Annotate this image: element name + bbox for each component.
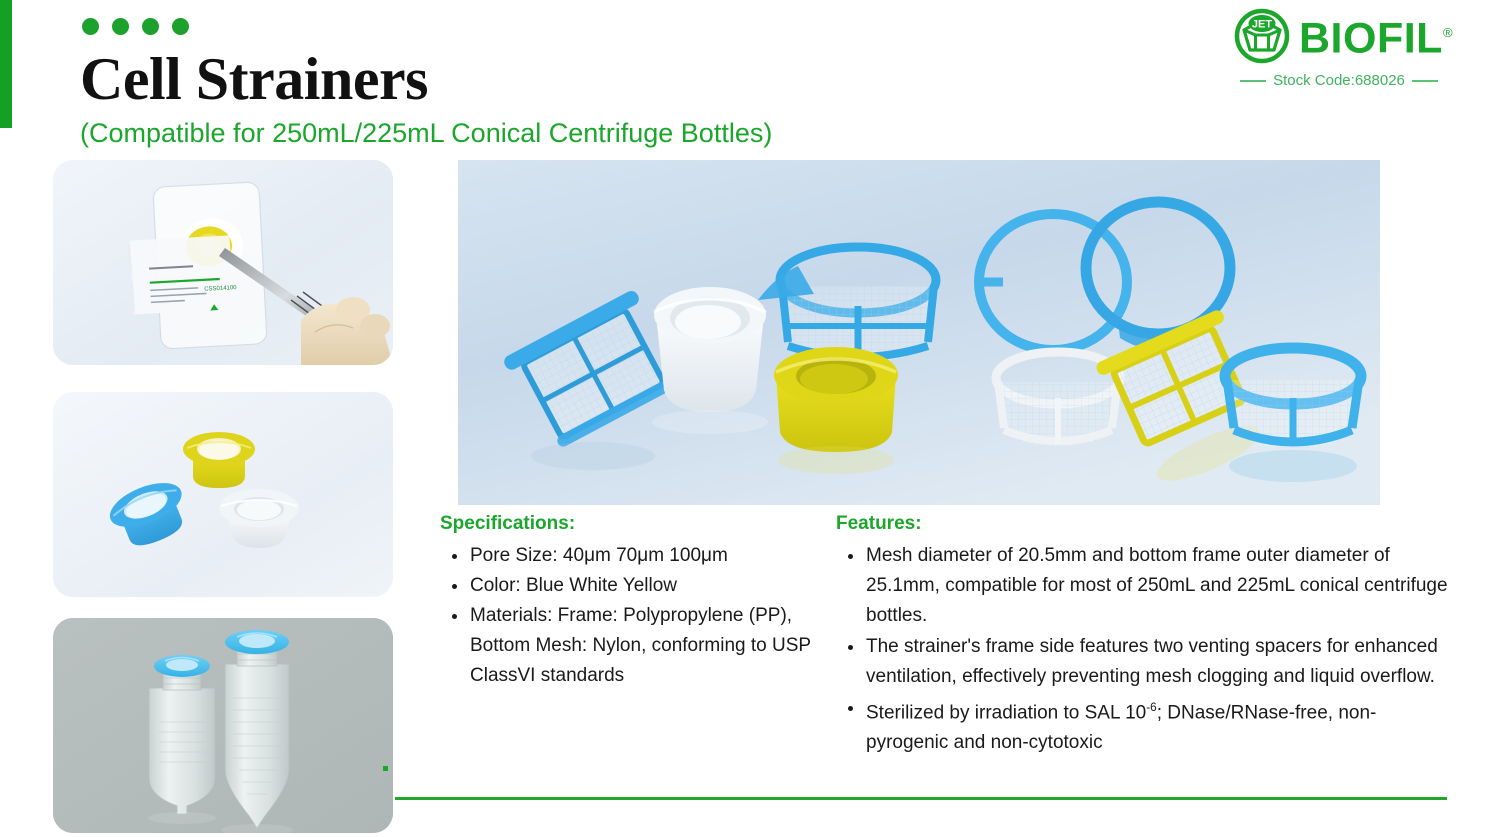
features-list: Mesh diameter of 20.5mm and bottom frame… xyxy=(836,541,1456,758)
green-dot-icon xyxy=(142,18,159,35)
list-item: The strainer's frame side features two v… xyxy=(836,632,1456,692)
thumbnail-blister-pack[interactable]: CSS014100 xyxy=(53,160,393,365)
features-heading: Features: xyxy=(836,513,1456,535)
list-item: Color: Blue White Yellow xyxy=(440,571,835,601)
list-item: Mesh diameter of 20.5mm and bottom frame… xyxy=(836,541,1456,631)
stock-code-row: Stock Code:688026 xyxy=(1234,72,1444,89)
page-subtitle: (Compatible for 250mL/225mL Conical Cent… xyxy=(80,116,772,150)
page-header: Cell Strainers (Compatible for 250mL/225… xyxy=(0,0,1488,158)
brand-wordmark: BIOFIL® xyxy=(1299,10,1453,61)
brand-logo-block: JET BIOFIL® Stock Code:688026 xyxy=(1234,8,1444,89)
hero-product-image[interactable] xyxy=(458,160,1380,505)
specifications-heading: Specifications: xyxy=(440,513,835,535)
specifications-list: Pore Size: 40μm 70μm 100μm Color: Blue W… xyxy=(440,541,835,691)
dash-right-icon xyxy=(1412,80,1438,82)
green-dot-icon xyxy=(172,18,189,35)
svg-text:JET: JET xyxy=(1252,19,1272,31)
green-dot-icon xyxy=(112,18,129,35)
thumbnail-centrifuge-bottles[interactable] xyxy=(53,618,393,833)
jet-biofil-logo-icon: JET xyxy=(1234,8,1290,64)
registered-trademark-icon: ® xyxy=(1443,25,1453,40)
list-item: Sterilized by irradiation to SAL 10-6; D… xyxy=(836,693,1456,758)
dot-decoration xyxy=(82,18,189,35)
bottom-accent-rule xyxy=(395,797,1447,800)
list-item: Pore Size: 40μm 70μm 100μm xyxy=(440,541,835,571)
brand-wordmark-text: BIOFIL xyxy=(1299,15,1443,63)
thumbnail-three-strainers[interactable] xyxy=(53,392,393,597)
features-section: Features: Mesh diameter of 20.5mm and bo… xyxy=(836,513,1456,759)
page-title: Cell Strainers xyxy=(80,46,428,112)
stock-code-text: Stock Code:688026 xyxy=(1273,72,1405,89)
dash-left-icon xyxy=(1240,80,1266,82)
specifications-section: Specifications: Pore Size: 40μm 70μm 100… xyxy=(440,513,835,691)
list-item: Materials: Frame: Polypropylene (PP), Bo… xyxy=(440,601,835,691)
green-dot-icon xyxy=(82,18,99,35)
